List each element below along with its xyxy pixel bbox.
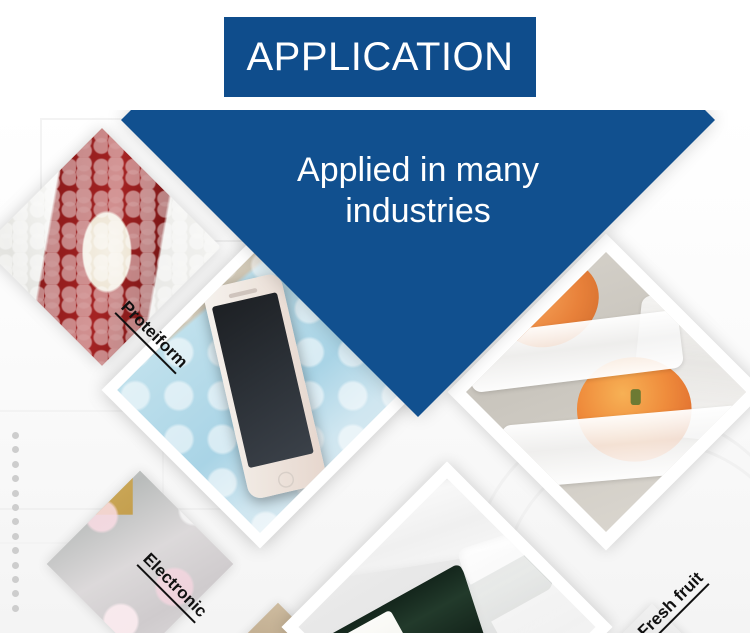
dot xyxy=(12,461,19,468)
dot xyxy=(12,432,19,439)
collage-stage: Applied in many industries Proteiform El… xyxy=(0,110,750,633)
dot-strip-decoration xyxy=(12,432,22,612)
application-banner-page: APPLICATION xyxy=(0,0,750,633)
dot xyxy=(12,576,19,583)
dot xyxy=(12,490,19,497)
header-banner: APPLICATION xyxy=(224,17,536,97)
phone-screen xyxy=(212,293,314,468)
dot xyxy=(12,547,19,554)
dot xyxy=(12,590,19,597)
header-band: APPLICATION xyxy=(0,0,750,110)
dot xyxy=(12,504,19,511)
dot xyxy=(12,446,19,453)
dot xyxy=(12,605,19,612)
phone-home-button xyxy=(276,470,295,489)
dot xyxy=(12,533,19,540)
dot xyxy=(12,475,19,482)
dot xyxy=(12,562,19,569)
dot xyxy=(12,518,19,525)
page-title: APPLICATION xyxy=(246,37,513,77)
bottle-label xyxy=(318,610,426,633)
